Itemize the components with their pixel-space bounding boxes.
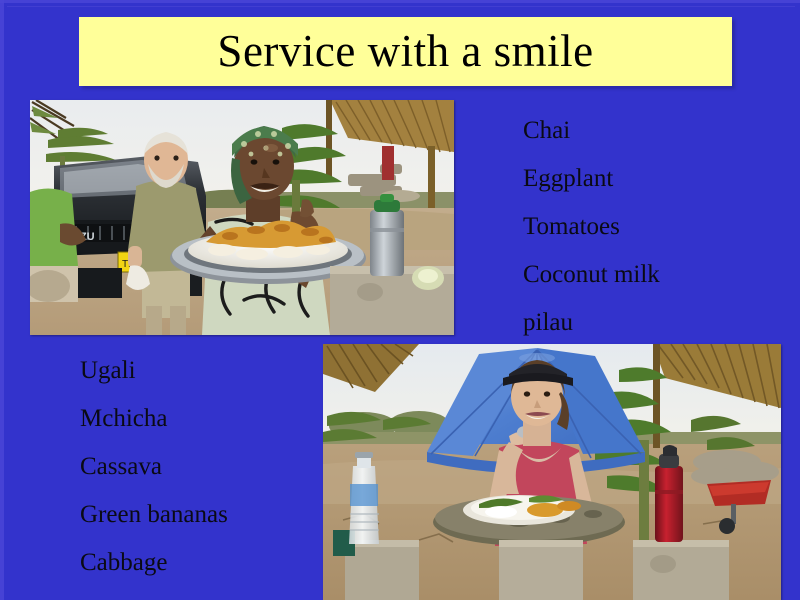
photo-market: UZU T12 bbox=[30, 100, 454, 335]
food-list-left: Ugali Mchicha Cassava Green bananas Cabb… bbox=[80, 347, 228, 587]
slide-border-inner bbox=[7, 6, 795, 7]
food-item-mchicha: Mchicha bbox=[80, 395, 228, 443]
food-item-coconut-milk: Coconut milk bbox=[523, 251, 660, 299]
food-item-cassava: Cassava bbox=[80, 443, 228, 491]
food-item-eggplant: Eggplant bbox=[523, 155, 660, 203]
food-list-right: Chai Eggplant Tomatoes Coconut milk pila… bbox=[523, 107, 660, 347]
slide-border-top bbox=[0, 0, 800, 3]
photo-lunch bbox=[323, 344, 781, 600]
food-item-cabbage: Cabbage bbox=[80, 539, 228, 587]
food-item-tomatoes: Tomatoes bbox=[523, 203, 660, 251]
food-item-ugali: Ugali bbox=[80, 347, 228, 395]
slide-canvas: Service with a smile bbox=[0, 0, 800, 600]
photo-lunch-image bbox=[323, 344, 781, 600]
food-item-chai: Chai bbox=[523, 107, 660, 155]
food-item-pilau: pilau bbox=[523, 299, 660, 347]
photo-market-image: UZU T12 bbox=[30, 100, 454, 335]
food-item-green-bananas: Green bananas bbox=[80, 491, 228, 539]
title-banner: Service with a smile bbox=[79, 17, 732, 86]
page-title: Service with a smile bbox=[217, 29, 593, 74]
slide-border-left bbox=[0, 0, 4, 600]
